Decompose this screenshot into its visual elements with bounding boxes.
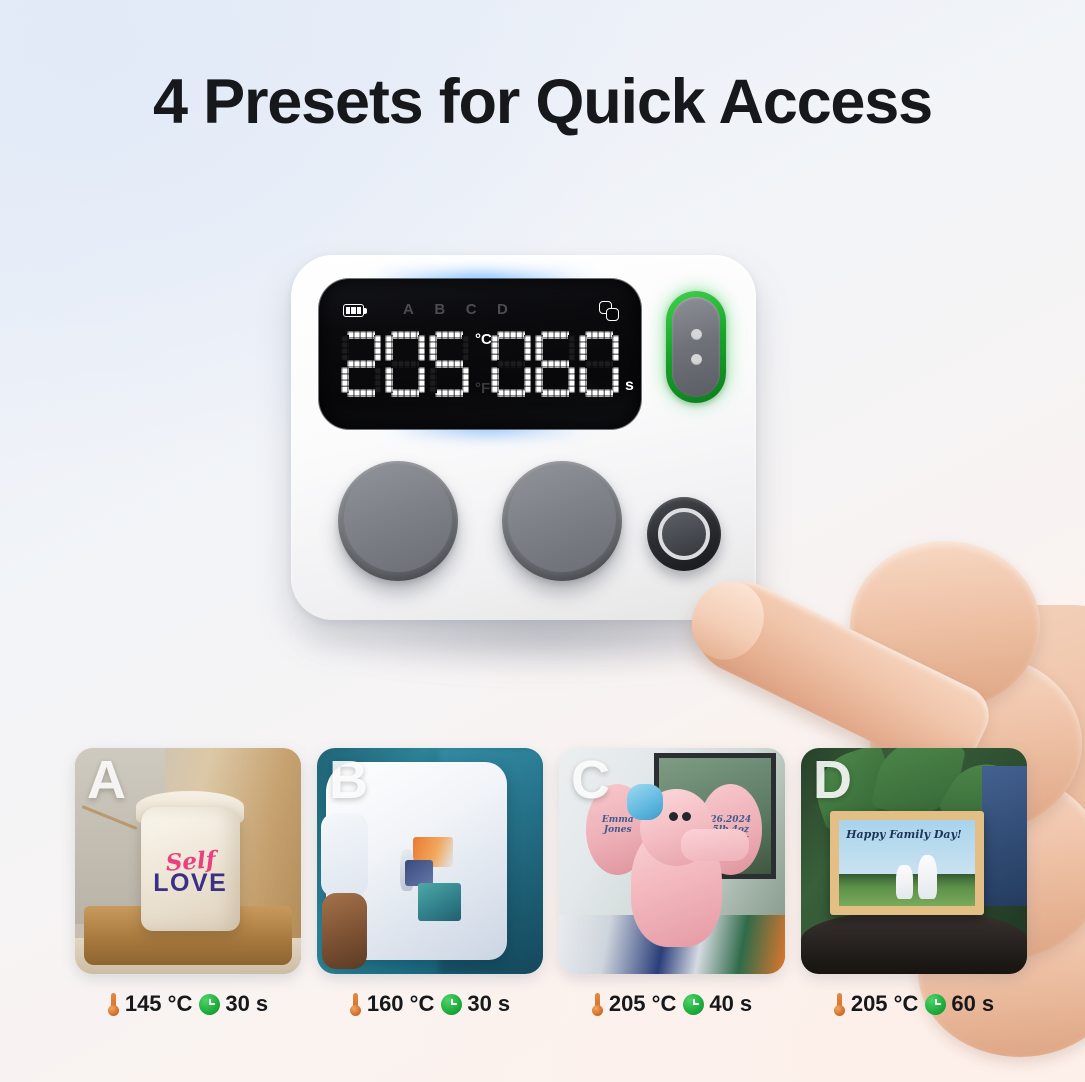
- temperature-digits: [341, 331, 469, 397]
- preset-button[interactable]: [666, 291, 726, 403]
- heat-press-device: A B C D: [291, 255, 756, 620]
- preset-image-b[interactable]: B: [317, 748, 543, 974]
- clock-icon: [683, 994, 704, 1015]
- preset-card-d[interactable]: Happy Family Day! D 205 °C 60 s: [801, 748, 1027, 1017]
- thermometer-icon: [592, 993, 604, 1016]
- unit-fahrenheit[interactable]: °F: [475, 380, 492, 397]
- thermometer-icon: [834, 993, 846, 1016]
- preset-caption-b: 160 °C 30 s: [317, 991, 543, 1017]
- preset-indicator-c[interactable]: C: [466, 301, 477, 318]
- thermometer-icon: [108, 993, 120, 1016]
- preset-temperature-a: 145 °C: [125, 991, 193, 1017]
- temperature-knob[interactable]: [338, 461, 458, 581]
- digit: [535, 331, 575, 397]
- digit: [341, 331, 381, 397]
- unit-seconds: s: [625, 377, 634, 395]
- time-readout: s: [491, 331, 619, 402]
- battery-icon: [343, 304, 367, 317]
- digit: [385, 331, 425, 397]
- preset-time-b: 30 s: [467, 991, 510, 1017]
- digit: [429, 331, 469, 397]
- knuckle: [850, 541, 1040, 709]
- elephant-bow: [627, 784, 663, 820]
- pouch-block-text: LOVE: [141, 869, 240, 898]
- digit: [579, 331, 619, 397]
- link-icon: [599, 301, 619, 321]
- tattooed-arm: [322, 893, 367, 970]
- preset-badge-c: C: [571, 752, 610, 809]
- preset-card-a[interactable]: Self LOVE A 145 °C 30 s: [75, 748, 301, 1017]
- preset-time-d: 60 s: [951, 991, 994, 1017]
- preset-card-b[interactable]: B 160 °C 30 s: [317, 748, 543, 1017]
- preset-button-dot-upper: [691, 329, 702, 340]
- digit: [491, 331, 531, 397]
- clock-icon: [199, 994, 220, 1015]
- photo-caption-text: Happy Family Day!: [846, 829, 962, 841]
- preset-image-d[interactable]: Happy Family Day! D: [801, 748, 1027, 974]
- preset-indicator-row: A B C D: [403, 301, 508, 318]
- time-knob[interactable]: [502, 461, 622, 581]
- preset-card-row: Self LOVE A 145 °C 30 s: [75, 748, 1015, 1017]
- device-display: A B C D: [319, 279, 641, 429]
- preset-temperature-c: 205 °C: [609, 991, 677, 1017]
- clock-icon: [925, 994, 946, 1015]
- preset-caption-d: 205 °C 60 s: [801, 991, 1027, 1017]
- preset-time-c: 40 s: [709, 991, 752, 1017]
- tshirt-print: [398, 837, 463, 925]
- preset-indicator-a[interactable]: A: [403, 301, 414, 318]
- preset-badge-d: D: [813, 752, 852, 809]
- time-digits: [491, 331, 619, 397]
- preset-indicator-b[interactable]: B: [434, 301, 445, 318]
- preset-badge-b: B: [329, 752, 368, 809]
- preset-temperature-d: 205 °C: [851, 991, 919, 1017]
- preset-image-c[interactable]: Emma Jones 26.2024 5lb 4oz 8:4 AM C: [559, 748, 785, 974]
- temperature-readout: °C °F: [341, 331, 469, 402]
- preset-caption-c: 205 °C 40 s: [559, 991, 785, 1017]
- elephant-trunk: [681, 829, 749, 861]
- device-stage: A B C D: [0, 205, 1085, 705]
- preset-indicator-d[interactable]: D: [497, 301, 508, 318]
- wooden-photo-frame: Happy Family Day!: [830, 811, 984, 915]
- display-readouts: °C °F: [319, 331, 641, 405]
- preset-time-a: 30 s: [225, 991, 268, 1017]
- preset-badge-a: A: [87, 752, 126, 809]
- thermometer-icon: [350, 993, 362, 1016]
- preset-card-c[interactable]: Emma Jones 26.2024 5lb 4oz 8:4 AM C: [559, 748, 785, 1017]
- preset-button-dot-lower: [691, 354, 702, 365]
- canvas-pouch: Self LOVE: [141, 807, 240, 931]
- power-ring: [658, 508, 710, 560]
- display-status-bar: A B C D: [319, 301, 641, 321]
- preset-temperature-b: 160 °C: [367, 991, 435, 1017]
- page-title: 4 Presets for Quick Access: [0, 66, 1085, 138]
- clock-icon: [441, 994, 462, 1015]
- preset-image-a[interactable]: Self LOVE A: [75, 748, 301, 974]
- temperature-units[interactable]: °C °F: [475, 331, 492, 397]
- product-poster: 4 Presets for Quick Access: [0, 0, 1085, 1082]
- preset-caption-a: 145 °C 30 s: [75, 991, 301, 1017]
- power-button[interactable]: [647, 497, 721, 571]
- unit-celsius[interactable]: °C: [475, 331, 492, 348]
